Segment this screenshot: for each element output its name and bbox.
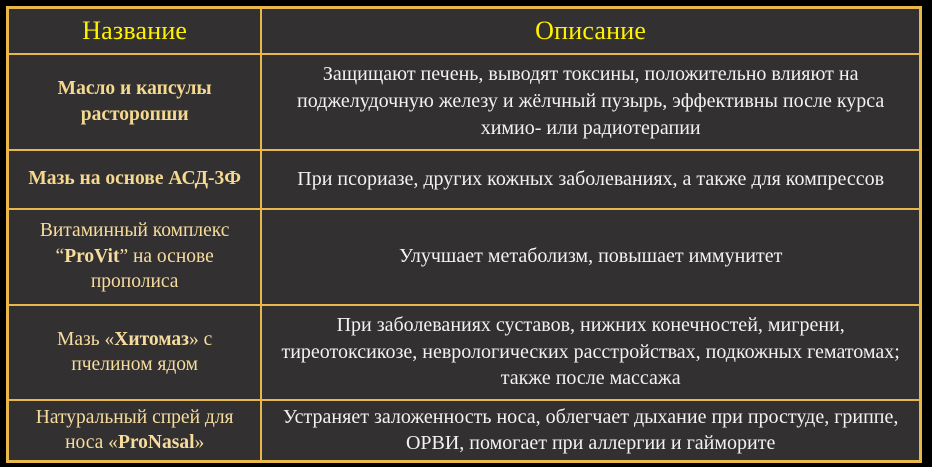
table-row: Мазь на основе АСД-3Ф При псориазе, друг…	[8, 150, 921, 209]
product-description-cell: При заболеваниях суставов, нижних конечн…	[261, 305, 920, 400]
product-name-cell: Натуральный спрей для носа «ProNasal»	[8, 400, 262, 462]
table-row: Натуральный спрей для носа «ProNasal» Ус…	[8, 400, 921, 462]
product-name-prefix: Мазь «	[57, 329, 114, 350]
product-name-prefix: Мазь на основе АСД-3Ф	[28, 168, 241, 189]
column-header-name: Название	[8, 8, 262, 54]
product-name-cell: Мазь «Хитомаз» с пчелином ядом	[8, 305, 262, 400]
product-name-cell: Масло и капсулы расторопши	[8, 54, 262, 150]
column-header-description: Описание	[261, 8, 920, 54]
table-header: Название Описание	[8, 8, 921, 54]
product-name-cell: Мазь на основе АСД-3Ф	[8, 150, 262, 209]
product-name-prefix: Масло и капсулы расторопши	[58, 78, 212, 124]
product-description-cell: Улучшает метаболизм, повышает иммунитет	[261, 209, 920, 305]
page-root: Название Описание Масло и капсулы растор…	[0, 0, 932, 467]
product-table: Название Описание Масло и капсулы растор…	[6, 6, 922, 463]
table-row: Масло и капсулы расторопши Защищают пече…	[8, 54, 921, 150]
product-brand-name: Хитомаз	[114, 329, 189, 350]
product-description-cell: Устраняет заложенность носа, облегчает д…	[261, 400, 920, 462]
table-header-row: Название Описание	[8, 8, 921, 54]
table-row: Мазь «Хитомаз» с пчелином ядом При забол…	[8, 305, 921, 400]
product-brand-name: ProNasal	[118, 432, 195, 453]
table-body: Масло и капсулы расторопши Защищают пече…	[8, 54, 921, 462]
product-description-cell: При псориазе, других кожных заболеваниях…	[261, 150, 920, 209]
table-row: Витаминный комплекс “ProVit” на основе п…	[8, 209, 921, 305]
product-name-suffix: »	[195, 432, 205, 453]
product-description-cell: Защищают печень, выводят токсины, положи…	[261, 54, 920, 150]
product-name-cell: Витаминный комплекс “ProVit” на основе п…	[8, 209, 262, 305]
product-brand-name: ProVit	[64, 246, 119, 267]
